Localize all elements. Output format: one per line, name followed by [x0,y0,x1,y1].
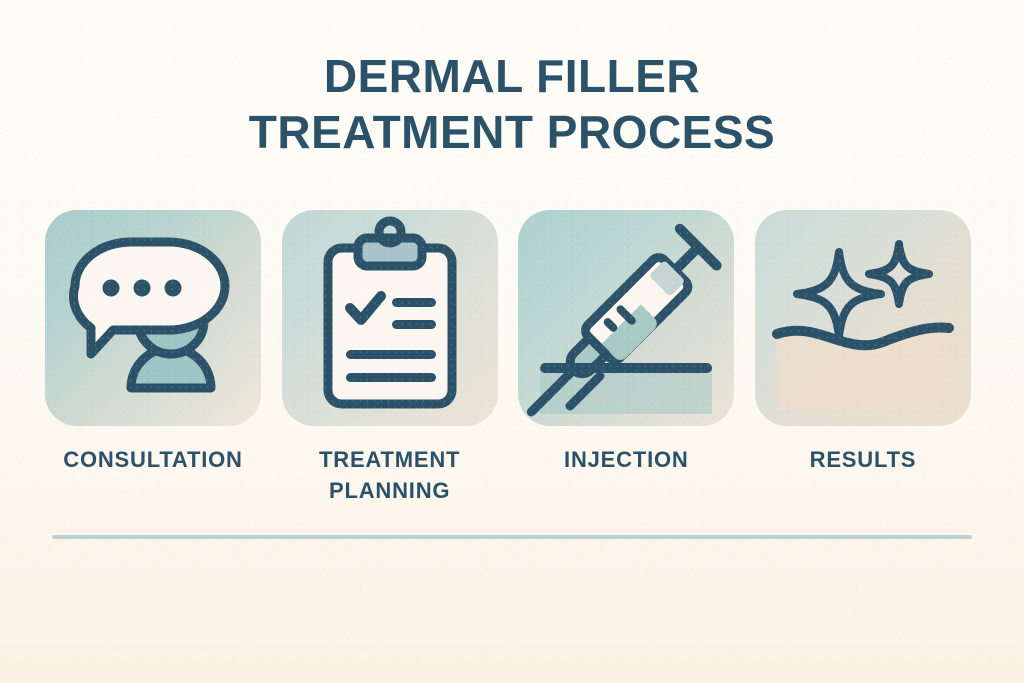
page-title-line-1: DERMAL FILLER [0,48,1024,104]
page-title: DERMAL FILLER TREATMENT PROCESS [0,48,1024,160]
step-label-treatment-planning-line-1: TREATMENT [319,447,460,472]
infographic-stage: DERMAL FILLER TREATMENT PROCESS [0,0,1024,683]
step-label-consultation: CONSULTATION [45,444,261,506]
sparkle-smooth-skin-icon [755,210,971,426]
step-card-consultation[interactable] [45,210,261,426]
step-label-treatment-planning-line-2: PLANNING [329,478,450,503]
page-title-line-2: TREATMENT PROCESS [0,104,1024,160]
step-label-results: RESULTS [755,444,971,506]
clipboard-checklist-icon [282,210,498,426]
speech-bubble-person-icon [45,210,261,426]
step-label-injection: INJECTION [518,444,734,506]
syringe-skin-icon [518,210,734,426]
step-card-results[interactable] [755,210,971,426]
step-label-row: CONSULTATION TREATMENT PLANNING INJECTIO… [45,444,971,506]
step-card-injection[interactable] [518,210,734,426]
step-label-treatment-planning: TREATMENT PLANNING [282,444,498,506]
step-card-treatment-planning[interactable] [282,210,498,426]
step-card-row [45,210,971,426]
section-divider [52,535,972,539]
